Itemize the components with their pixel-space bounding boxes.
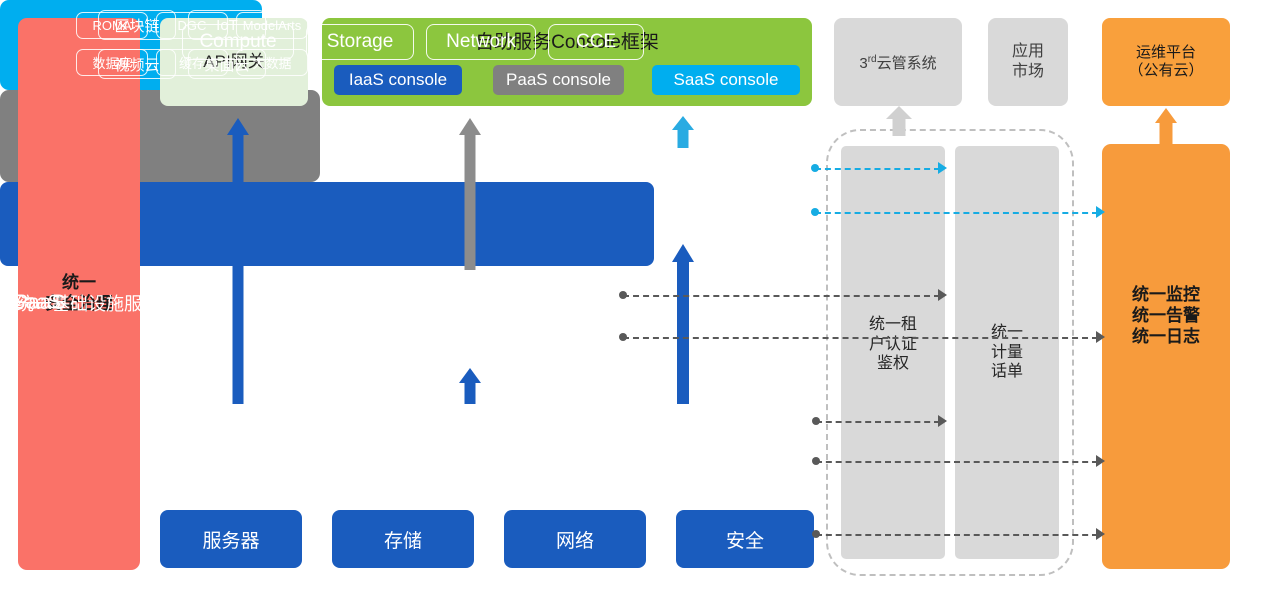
arrow-infra-to-paas <box>458 368 482 404</box>
arrowhead-hardware-to-ops <box>1096 528 1105 540</box>
ops-platform-label: 运维平台 （公有云） <box>1128 44 1203 81</box>
arrowhead-paas-to-ops <box>1096 331 1105 343</box>
architecture-diagram: 统一 安全治理 API网关 自助服务Console框架 IaaS console… <box>0 0 1265 605</box>
arrowhead-saas-to-ops <box>1096 206 1105 218</box>
arrowhead-infra-to-ops <box>1096 455 1105 467</box>
infra-service-storage[interactable]: Storage <box>306 24 414 60</box>
hardware-network-box[interactable]: 网络 <box>504 510 646 568</box>
infra-service-network[interactable]: Network <box>426 24 536 60</box>
line-infra-to-ops <box>816 461 1098 463</box>
unified-monitoring-panel: 统一监控 统一告警 统一日志 <box>1102 144 1230 569</box>
line-saas-to-ops <box>815 212 1098 214</box>
line-hardware-to-ops <box>816 534 1098 536</box>
ops-platform-box: 运维平台 （公有云） <box>1102 18 1230 106</box>
arrowhead-paas-to-auth <box>938 289 947 301</box>
line-infra-to-auth <box>816 421 940 423</box>
app-market-label: 应用 市场 <box>1012 42 1044 81</box>
infra-service-compute[interactable]: Compute <box>182 24 294 60</box>
paas-service-database[interactable]: 数据库 <box>76 49 148 76</box>
infrastructure-layer-label: 统一基础设施服务 <box>16 290 160 316</box>
arrowhead-saas-to-auth <box>938 162 947 174</box>
paas-service-roma[interactable]: ROMA <box>76 12 148 39</box>
unified-tenant-auth-label: 统一租 户认证 鉴权 <box>869 315 917 374</box>
third-party-cloud-mgmt-label: 3rd云管系统 <box>859 52 936 73</box>
line-paas-to-ops <box>623 337 1098 339</box>
iaas-console-chip[interactable]: IaaS console <box>334 65 462 95</box>
arrow-ops-side-to-ops-top <box>1154 108 1178 146</box>
unified-tenant-auth-column: 统一租 户认证 鉴权 <box>841 146 945 559</box>
third-party-cloud-mgmt-box: 3rd云管系统 <box>834 18 962 106</box>
arrow-saas-to-console <box>671 116 695 148</box>
saas-console-label: SaaS console <box>674 70 779 90</box>
unified-metering-label: 统一 计量 话单 <box>991 323 1023 382</box>
arrow-shared-to-third-cloud <box>886 106 912 136</box>
saas-console-chip[interactable]: SaaS console <box>652 65 800 95</box>
unified-monitoring-label: 统一监控 统一告警 统一日志 <box>1132 285 1200 347</box>
hardware-server-box[interactable]: 服务器 <box>160 510 302 568</box>
hardware-storage-box[interactable]: 存储 <box>332 510 474 568</box>
unified-metering-column: 统一 计量 话单 <box>955 146 1059 559</box>
paas-console-chip[interactable]: PaaS console <box>493 65 624 95</box>
line-saas-to-auth <box>815 168 940 170</box>
paas-console-label: PaaS console <box>506 70 611 90</box>
arrowhead-infra-to-auth <box>938 415 947 427</box>
line-paas-to-auth <box>623 295 940 297</box>
arrow-infra-to-api-gateway <box>226 118 250 404</box>
arrow-infra-to-saas <box>671 244 695 404</box>
app-market-box: 应用 市场 <box>988 18 1068 106</box>
iaas-console-label: IaaS console <box>349 70 447 90</box>
infra-service-cce[interactable]: CCE <box>548 24 644 60</box>
hardware-security-box[interactable]: 安全 <box>676 510 814 568</box>
arrow-paas-to-console <box>458 118 482 270</box>
